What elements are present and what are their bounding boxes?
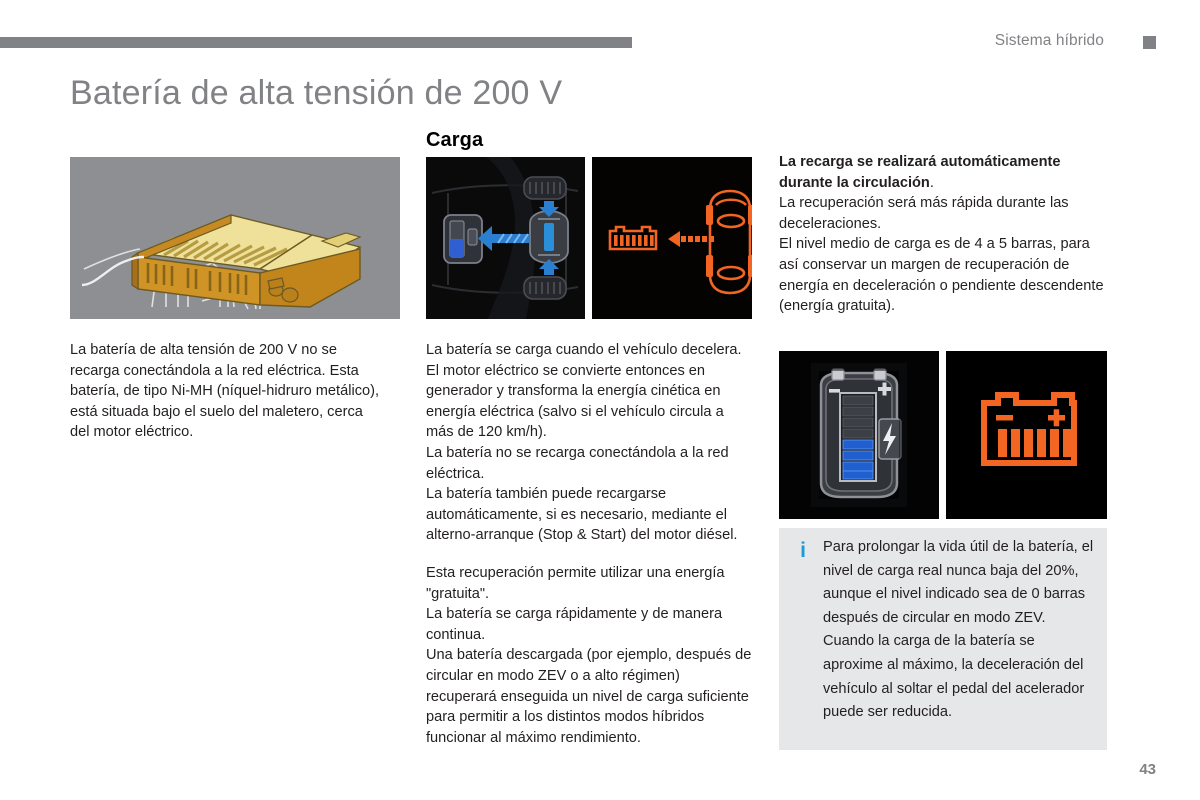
carga-body-text: La batería se carga cuando el vehículo d… [426, 340, 752, 748]
header-rule [0, 37, 632, 48]
carga-paragraph-5: La batería se carga rápidamente y de man… [426, 604, 752, 645]
battery-charge-gauge-screen [779, 351, 939, 519]
square-marker-icon [1143, 36, 1156, 49]
info-icon: i [797, 540, 809, 561]
recarga-paragraph-2: El nivel medio de carga es de 4 a 5 barr… [779, 234, 1107, 316]
energy-flow-screen [426, 157, 585, 319]
page-number: 43 [1139, 761, 1156, 778]
high-voltage-battery-pack-illustration [70, 157, 400, 319]
recarga-lead-bold: La recarga se realizará automáticamente … [779, 154, 1060, 191]
page-title: Batería de alta tensión de 200 V [70, 74, 562, 113]
section-heading-carga: Carga [426, 129, 483, 152]
carga-paragraph-6: Una batería descargada (por ejemplo, des… [426, 645, 752, 748]
header-section-title: Sistema híbrido [995, 32, 1104, 50]
page-header: Sistema híbrido [0, 0, 1200, 60]
info-note-paragraph-2: Cuando la carga de la batería se aproxim… [823, 630, 1095, 724]
info-note-box: i Para prolongar la vida útil de la bate… [779, 528, 1107, 750]
carga-paragraph-1: La batería se carga cuando el vehículo d… [426, 340, 752, 443]
info-note-paragraph-1: Para prolongar la vida útil de la baterí… [823, 536, 1095, 630]
carga-paragraph-4: Esta recuperación permite utilizar una e… [426, 563, 752, 604]
carga-paragraph-3: La batería también puede recargarse auto… [426, 484, 752, 546]
recarga-lead-rest: . [930, 175, 934, 191]
battery-pack-caption: La batería de alta tensión de 200 V no s… [70, 340, 382, 443]
info-note-text: Para prolongar la vida útil de la baterí… [823, 536, 1095, 725]
caption-paragraph: La batería de alta tensión de 200 V no s… [70, 340, 382, 443]
amber-charge-screen [592, 157, 752, 319]
recarga-lead-paragraph: La recarga se realizará automáticamente … [779, 152, 1107, 193]
recarga-body-text: La recarga se realizará automáticamente … [779, 152, 1107, 317]
carga-paragraph-2: La batería no se recarga conectándola a … [426, 443, 752, 484]
recarga-paragraph-1: La recuperación será más rápida durante … [779, 193, 1107, 234]
battery-warning-lamp [946, 351, 1107, 519]
